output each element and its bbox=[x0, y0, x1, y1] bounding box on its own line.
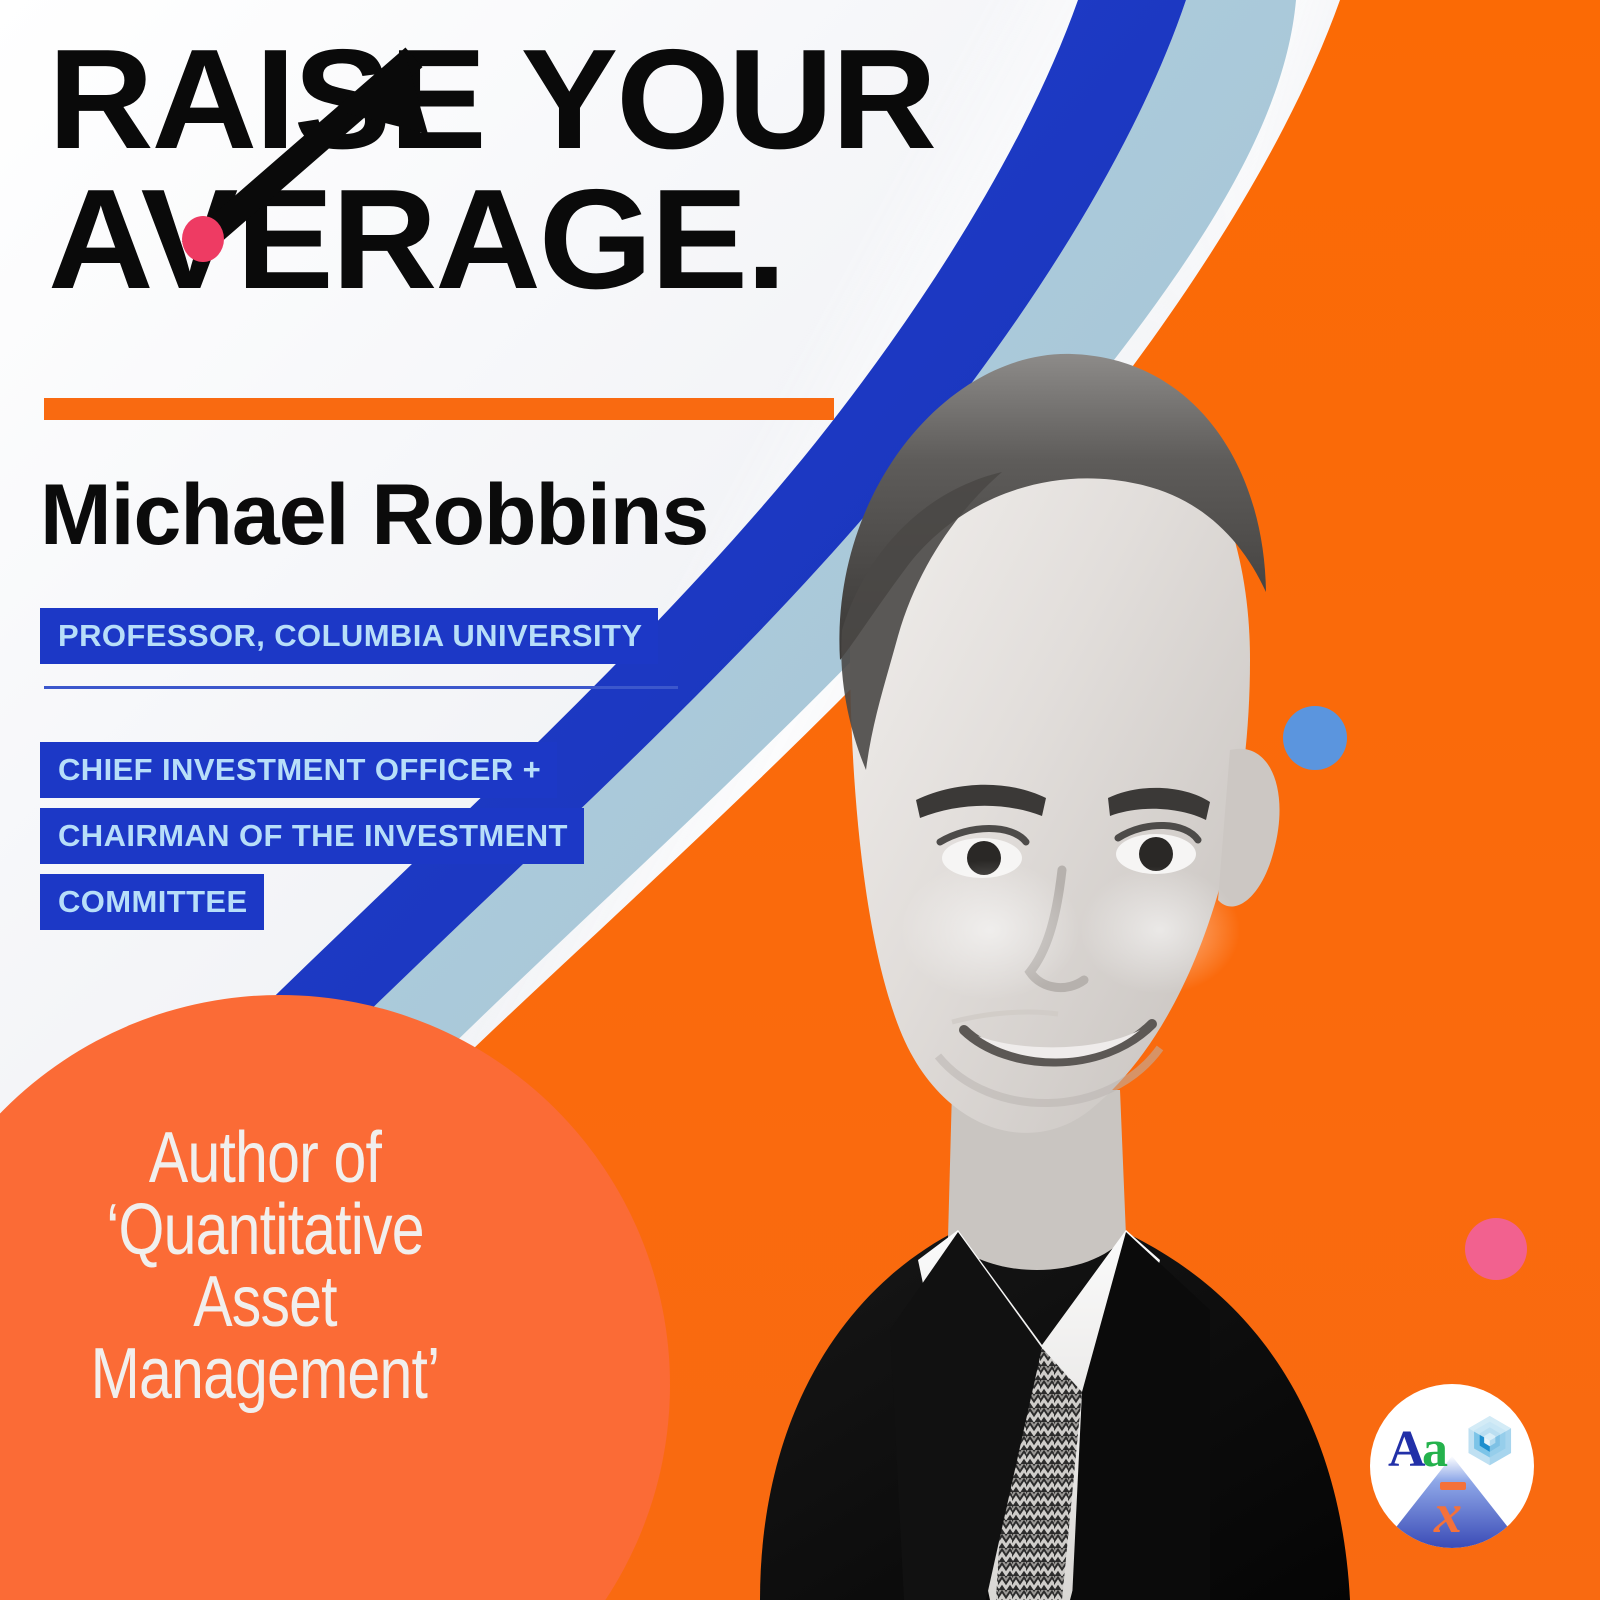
speaker-portrait bbox=[690, 330, 1390, 1600]
badge-professor: PROFESSOR, COLUMBIA UNIVERSITY bbox=[40, 608, 658, 664]
author-credit-text: Author of ‘Quantitative Asset Management… bbox=[72, 1122, 457, 1410]
speaker-name: Michael Robbins bbox=[40, 472, 708, 558]
badge-cio-label: CHIEF INVESTMENT OFFICER + bbox=[40, 742, 557, 798]
podcast-cover-art: RAISE YOUR AVERAGE. Michael Robbins PROF… bbox=[0, 0, 1600, 1600]
badge-professor-label: PROFESSOR, COLUMBIA UNIVERSITY bbox=[40, 608, 658, 664]
logo-letter-A: A bbox=[1388, 1421, 1426, 1478]
badge-cio: CHIEF INVESTMENT OFFICER + bbox=[40, 742, 557, 798]
badge-committee: COMMITTEE bbox=[40, 874, 264, 930]
poster-title: RAISE YOUR AVERAGE. bbox=[48, 34, 1168, 306]
badge-chairman-label: CHAIRMAN OF THE INVESTMENT bbox=[40, 808, 584, 864]
title-line-1: RAISE YOUR bbox=[48, 34, 1202, 166]
badge-committee-label: COMMITTEE bbox=[40, 874, 264, 930]
author-credit-line-1: Author of bbox=[72, 1122, 457, 1194]
author-credit-line-2: ‘Quantitative bbox=[72, 1194, 457, 1266]
blue-accent-dot-icon bbox=[1283, 706, 1347, 770]
pink-accent-dot-icon bbox=[1465, 1218, 1527, 1280]
badge-chairman: CHAIRMAN OF THE INVESTMENT bbox=[40, 808, 584, 864]
logo-letter-a: a bbox=[1422, 1421, 1448, 1478]
author-credit-line-3: Asset bbox=[72, 1266, 457, 1338]
pink-dot-icon bbox=[182, 216, 224, 262]
logo-xbar-symbol: x bbox=[1433, 1482, 1466, 1545]
badge-divider bbox=[44, 686, 678, 689]
orange-divider-rule bbox=[44, 398, 834, 420]
author-credit-line-4: Management’ bbox=[72, 1338, 457, 1410]
brand-logo: A a x bbox=[1368, 1382, 1536, 1550]
svg-text:x: x bbox=[1433, 1483, 1462, 1545]
